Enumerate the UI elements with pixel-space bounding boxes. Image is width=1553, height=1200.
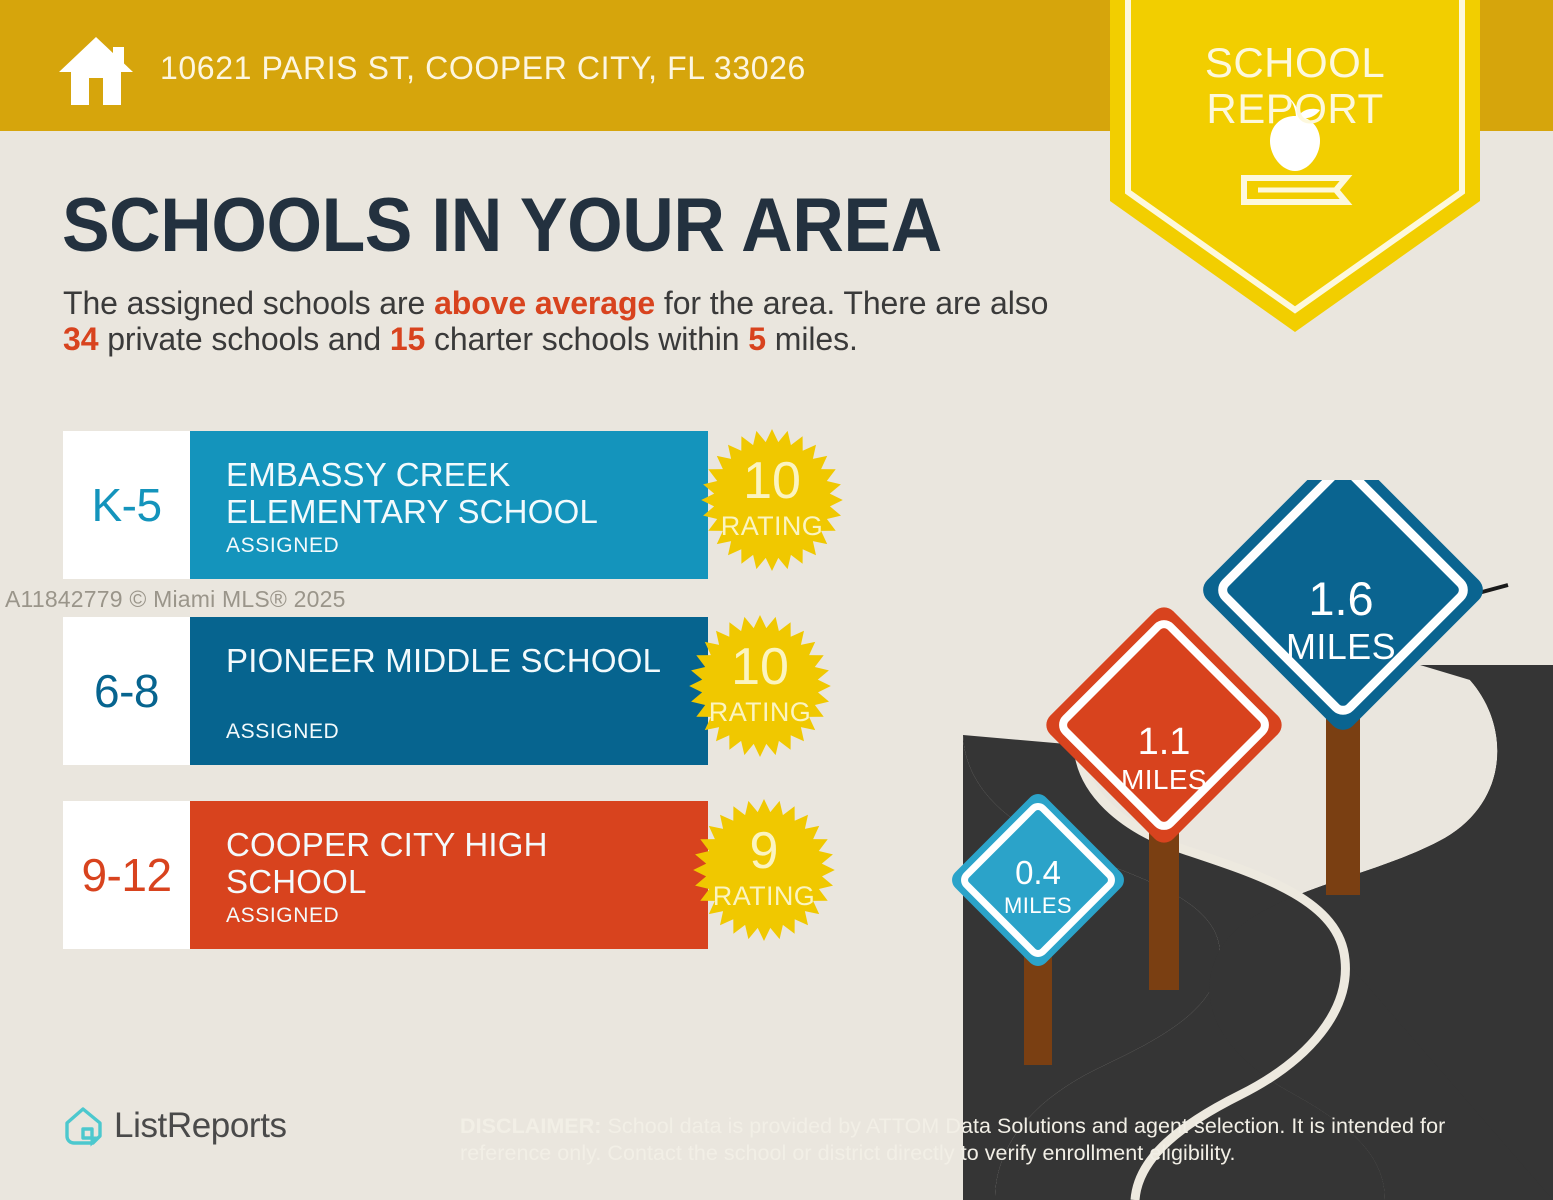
rating-caption: RATING	[694, 511, 850, 542]
road-sign-distance: 1.1	[1084, 722, 1244, 762]
summary-highlight-radius: 5	[748, 321, 766, 357]
home-icon	[57, 31, 135, 109]
page-title: SCHOOLS IN YOUR AREA	[62, 186, 942, 266]
summary-part5: miles.	[766, 321, 858, 357]
banner-title-line2: REPORT	[1110, 86, 1480, 132]
school-name: EMBASSY CREEK ELEMENTARY SCHOOL	[226, 456, 686, 530]
school-row[interactable]: 9-12 COOPER CITY HIGH SCHOOL ASSIGNED	[63, 801, 708, 949]
grade-box: 6-8	[63, 617, 190, 765]
school-report-infographic: 10621 PARIS ST, COOPER CITY, FL 33026 SC…	[0, 0, 1553, 1200]
rating-value: 10	[682, 641, 838, 693]
disclaimer-body: School data is provided by ATTOM Data So…	[460, 1114, 1445, 1165]
road-illustration	[930, 480, 1553, 1200]
summary-highlight-charter-count: 15	[390, 321, 425, 357]
banner-title-line1: SCHOOL	[1110, 40, 1480, 86]
road-sign-unit: MILES	[1084, 764, 1244, 796]
listreports-logo[interactable]: ListReports	[62, 1105, 287, 1147]
disclaimer-label: DISCLAIMER:	[460, 1114, 602, 1138]
school-row[interactable]: 6-8 PIONEER MIDDLE SCHOOL ASSIGNED	[63, 617, 708, 765]
school-bar: EMBASSY CREEK ELEMENTARY SCHOOL ASSIGNED	[190, 431, 708, 579]
school-bar: PIONEER MIDDLE SCHOOL ASSIGNED	[190, 617, 708, 765]
road-sign-unit: MILES	[968, 893, 1108, 919]
summary-part4: charter schools within	[425, 321, 748, 357]
grade-box: 9-12	[63, 801, 190, 949]
school-status: ASSIGNED	[226, 904, 339, 928]
school-name: COOPER CITY HIGH SCHOOL	[226, 826, 686, 900]
grade-label: K-5	[91, 478, 161, 532]
mls-watermark: A11842779 © Miami MLS® 2025	[5, 586, 346, 613]
school-row[interactable]: K-5 EMBASSY CREEK ELEMENTARY SCHOOL ASSI…	[63, 431, 708, 579]
grade-label: 9-12	[81, 848, 171, 902]
road-sign-distance: 0.4	[968, 855, 1108, 890]
listreports-wordmark: ListReports	[114, 1106, 287, 1146]
rating-badge: 10 RATING	[694, 427, 850, 583]
summary-highlight-above-average: above average	[434, 285, 655, 321]
road-sign-unit: MILES	[1251, 626, 1431, 668]
disclaimer-text: DISCLAIMER: School data is provided by A…	[460, 1113, 1480, 1167]
listreports-house-icon	[62, 1105, 104, 1147]
rating-value: 10	[694, 455, 850, 507]
summary-text: The assigned schools are above average f…	[63, 285, 1073, 357]
school-status: ASSIGNED	[226, 720, 339, 744]
school-status: ASSIGNED	[226, 534, 339, 558]
rating-caption: RATING	[686, 881, 842, 912]
banner-title: SCHOOL REPORT	[1110, 40, 1480, 132]
summary-highlight-private-count: 34	[63, 321, 98, 357]
rating-value: 9	[686, 825, 842, 877]
road-sign-distance: 1.6	[1251, 574, 1431, 624]
rating-badge: 10 RATING	[682, 613, 838, 769]
grade-box: K-5	[63, 431, 190, 579]
rating-badge: 9 RATING	[686, 797, 842, 953]
property-address: 10621 PARIS ST, COOPER CITY, FL 33026	[160, 50, 806, 87]
school-bar: COOPER CITY HIGH SCHOOL ASSIGNED	[190, 801, 708, 949]
school-name: PIONEER MIDDLE SCHOOL	[226, 642, 686, 679]
summary-part1: The assigned schools are	[63, 285, 434, 321]
rating-caption: RATING	[682, 697, 838, 728]
grade-label: 6-8	[94, 664, 159, 718]
summary-part2: for the area. There are also	[655, 285, 1048, 321]
summary-part3: private schools and	[98, 321, 389, 357]
